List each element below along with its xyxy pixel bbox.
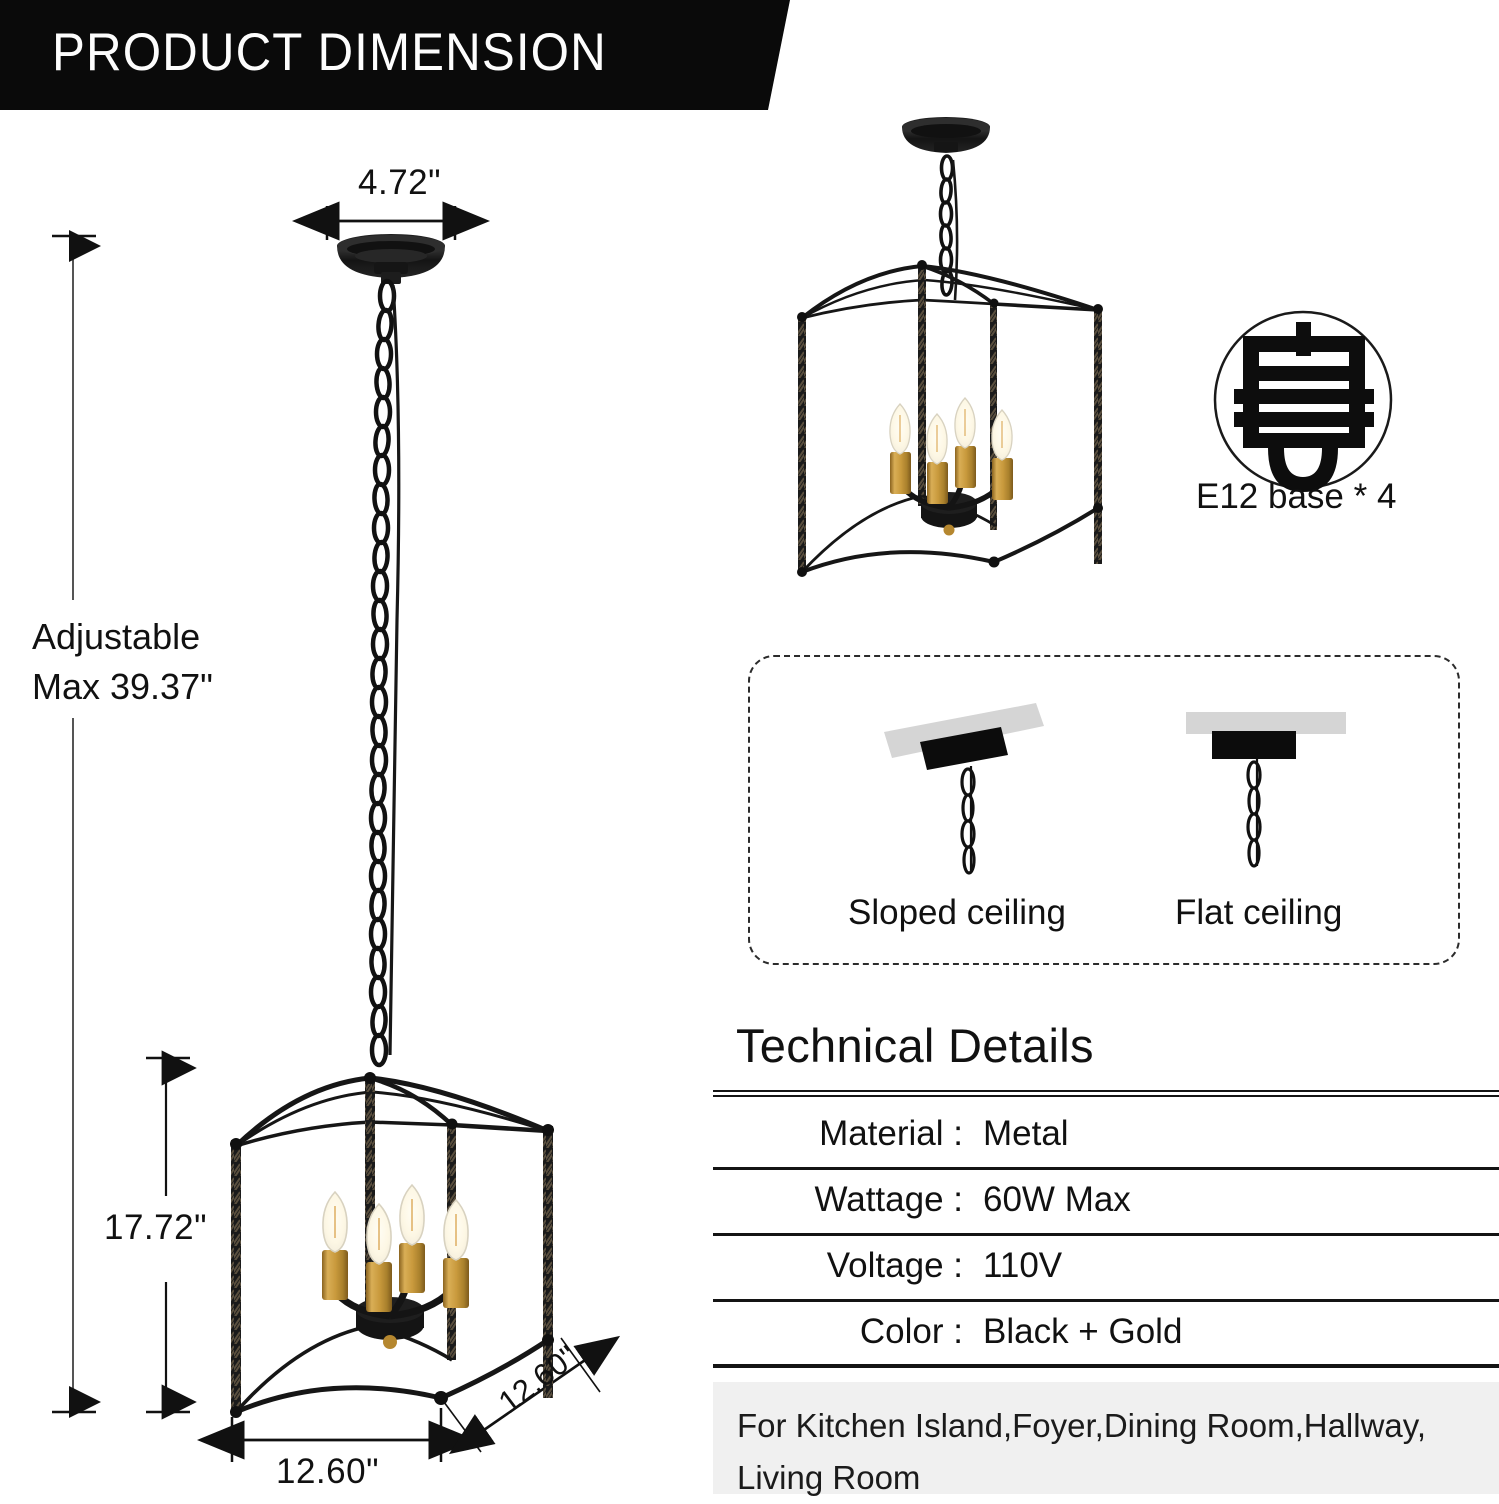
page-title: PRODUCT DIMENSION [52,22,607,83]
adjustable-line-2: Max 39.37" [32,662,213,712]
table-cell-value: Metal [983,1114,1069,1154]
ceiling-canopy [337,234,445,284]
e12-socket-icon [1215,312,1391,492]
e12-base-label: E12 base * 4 [1196,477,1396,517]
fixture-height-label: 17.72" [104,1208,207,1248]
table-cell-key: Voltage : [713,1246,963,1286]
suspension-chain [371,281,394,1065]
table-row: Color : Black + Gold [713,1302,1499,1368]
sloped-ceiling-label: Sloped ceiling [848,893,1066,933]
usage-footer: For Kitchen Island,Foyer,Dining Room,Hal… [713,1382,1499,1494]
adjustable-height-dimension [52,236,96,1412]
product-chandelier [797,117,1103,577]
candle-socket [399,1185,425,1293]
usage-footer-line-2: Living Room [737,1452,1426,1504]
adjustable-length-label: Adjustable Max 39.37" [32,612,213,712]
candle-socket [366,1204,392,1312]
candle-socket [443,1200,469,1308]
header-banner: PRODUCT DIMENSION [0,0,800,110]
canopy-width-label: 4.72" [358,163,441,203]
adjustable-line-1: Adjustable [32,612,213,662]
table-cell-key: Material : [713,1114,963,1154]
technical-details-table: Material : Metal Wattage : 60W Max Volta… [713,1104,1499,1368]
table-row: Wattage : 60W Max [713,1170,1499,1236]
technical-details-divider [713,1090,1499,1097]
usage-footer-text: For Kitchen Island,Foyer,Dining Room,Hal… [737,1400,1426,1504]
usage-footer-line-1: For Kitchen Island,Foyer,Dining Room,Hal… [737,1400,1426,1452]
cage-depth-label: 12.60" [492,1339,584,1421]
flat-ceiling-label: Flat ceiling [1175,893,1342,933]
lantern-cage-large [230,1072,554,1418]
table-cell-value: 60W Max [983,1180,1131,1220]
main-chandelier-diagram [230,234,554,1418]
table-cell-key: Color : [713,1312,963,1352]
table-row: Voltage : 110V [713,1236,1499,1302]
cage-width-label: 12.60" [276,1452,379,1492]
technical-details-title: Technical Details [736,1018,1094,1073]
canopy-width-dimension [327,206,455,240]
infographic-root: PRODUCT DIMENSION [0,0,1499,1500]
table-cell-value: 110V [983,1246,1062,1286]
table-row: Material : Metal [713,1104,1499,1170]
table-cell-value: Black + Gold [983,1312,1182,1352]
candle-socket [322,1192,348,1300]
table-cell-key: Wattage : [713,1180,963,1220]
power-cord [390,285,399,1055]
